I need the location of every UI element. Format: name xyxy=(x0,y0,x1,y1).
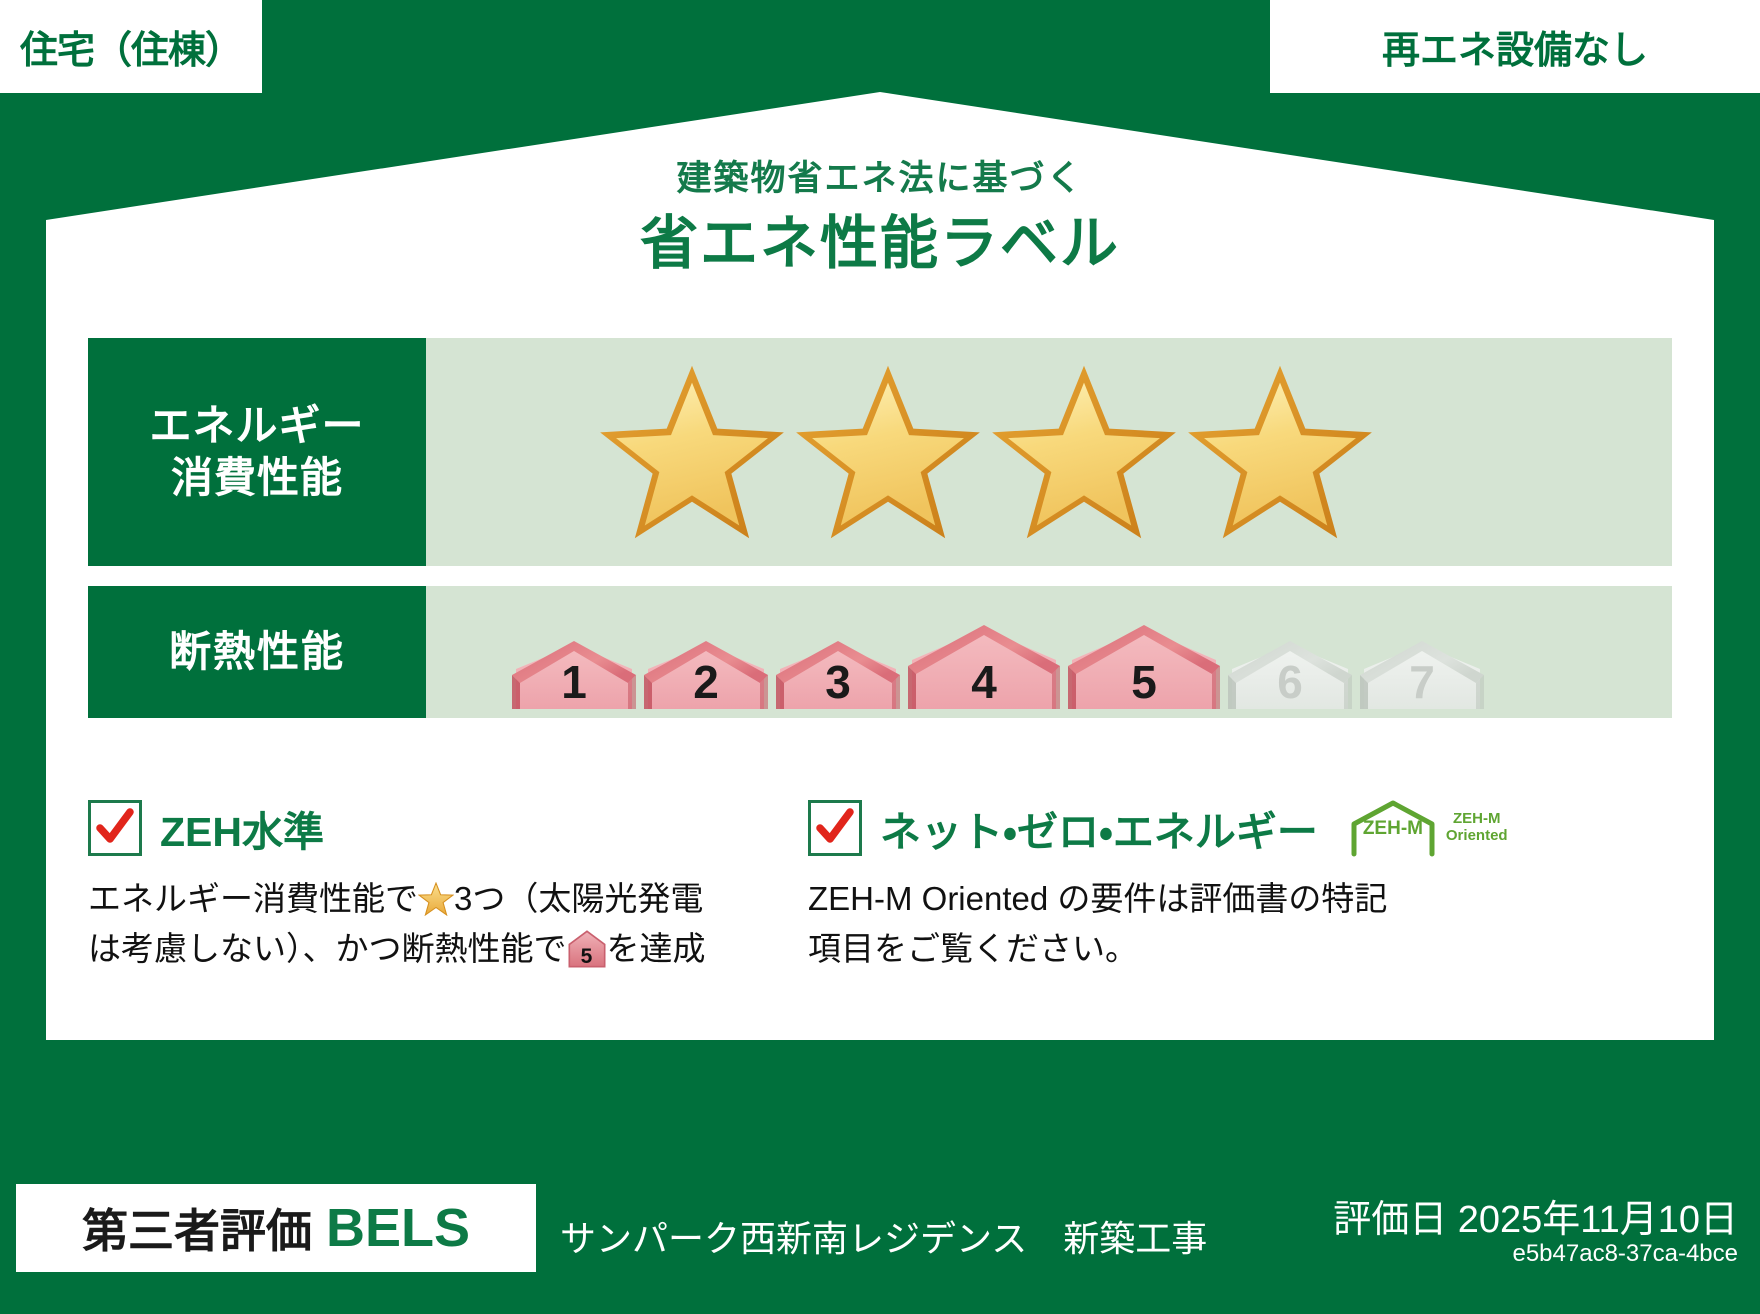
insulation-level-number: 5 xyxy=(1066,659,1222,705)
star-rating xyxy=(598,362,1374,542)
insulation-label-text: 断熱性能 xyxy=(169,626,345,679)
badge-building-type-label: 住宅（住棟） xyxy=(20,19,242,74)
energy-performance-row: エネルギー 消費性能 xyxy=(88,338,1672,566)
energy-label-line1: エネルギー xyxy=(149,400,364,453)
zeh-standard-description: エネルギー消費性能で3つ（太陽光発電 は考慮しない）、かつ断熱性能で5を達成 xyxy=(88,874,788,974)
insulation-level-1: 1 xyxy=(510,639,638,711)
zeh-m-house-icon: ZEH-M xyxy=(1346,798,1440,858)
zeh-m-oriented-logo: ZEH-M ZEH-M Oriented xyxy=(1346,798,1508,858)
insulation-level-number: 2 xyxy=(642,659,770,705)
project-name: サンパーク西新南レジデンス 新築工事 xyxy=(560,1210,1207,1262)
insulation-level-6: 6 xyxy=(1226,639,1354,711)
energy-performance-value xyxy=(426,338,1672,566)
insulation-level-number: 3 xyxy=(774,659,902,705)
net-zero-energy-title: ネット・ゼロ・エネルギー xyxy=(880,798,1318,858)
badge-renewable-energy: 再エネ設備なし xyxy=(1270,0,1760,93)
energy-performance-label: エネルギー 消費性能 xyxy=(88,338,426,566)
insulation-performance-value: 1234567 xyxy=(426,586,1672,718)
zeh-standard-title: ZEH水準 xyxy=(160,798,324,858)
page-title: 省エネ性能ラベル xyxy=(0,196,1760,280)
bels-third-party-label: 第三者評価 xyxy=(82,1195,312,1261)
evaluation-id: e5b47ac8-37ca-4bce xyxy=(1512,1240,1738,1268)
star-icon xyxy=(1186,362,1374,542)
net-zero-energy-section: ネット・ゼロ・エネルギー ZEH-M ZEH-M Oriented ZEH-M … xyxy=(808,800,1508,974)
zeh-standard-header: ZEH水準 xyxy=(88,800,788,856)
insulation-performance-row: 断熱性能 1234567 xyxy=(88,586,1672,718)
inline-house-number: 5 xyxy=(567,946,607,967)
star-icon xyxy=(598,362,786,542)
zeh-desc-part1: エネルギー消費性能で xyxy=(88,880,418,917)
insulation-level-number: 1 xyxy=(510,659,638,705)
bels-logo-text: BELS xyxy=(326,1197,470,1259)
footer: 第三者評価 BELS サンパーク西新南レジデンス 新築工事 評価日 2025年1… xyxy=(0,1174,1760,1314)
star-icon xyxy=(990,362,1178,542)
insulation-level-5: 5 xyxy=(1066,623,1222,711)
star-icon xyxy=(794,362,982,542)
insulation-level-scale: 1234567 xyxy=(510,579,1486,725)
nze-desc-line1: ZEH-M Oriented の要件は評価書の特記 xyxy=(808,880,1387,917)
insulation-level-3: 3 xyxy=(774,639,902,711)
badge-building-type: 住宅（住棟） xyxy=(0,0,262,93)
inline-star-icon xyxy=(418,880,454,914)
zeh-desc-stars: 3つ（太陽光発電 xyxy=(454,880,703,917)
check-icon xyxy=(815,807,855,849)
zeh-m-mark-text: ZEH-M xyxy=(1346,818,1440,840)
insulation-level-4: 4 xyxy=(906,623,1062,711)
badge-renewable-energy-label: 再エネ設備なし xyxy=(1382,19,1648,74)
insulation-level-7: 7 xyxy=(1358,639,1486,711)
zeh-standard-section: ZEH水準 エネルギー消費性能で3つ（太陽光発電 は考慮しない）、かつ断熱性能で… xyxy=(88,800,788,974)
net-zero-energy-header: ネット・ゼロ・エネルギー ZEH-M ZEH-M Oriented xyxy=(808,800,1508,856)
zeh-desc-part2: は考慮しない）、かつ断熱性能で xyxy=(88,930,567,967)
zeh-desc-part3: を達成 xyxy=(607,930,706,967)
bels-certification-badge: 第三者評価 BELS xyxy=(16,1184,536,1272)
energy-label-line2: 消費性能 xyxy=(171,452,343,505)
zeh-m-side-line2: Oriented xyxy=(1446,828,1508,845)
insulation-level-number: 4 xyxy=(906,659,1062,705)
nze-desc-line2: 項目をご覧ください。 xyxy=(808,930,1138,967)
zeh-standard-checkbox[interactable] xyxy=(88,800,142,856)
net-zero-energy-checkbox[interactable] xyxy=(808,800,862,856)
title-subtitle: 建築物省エネ法に基づく xyxy=(0,150,1760,201)
check-icon xyxy=(95,807,135,849)
net-zero-energy-description: ZEH-M Oriented の要件は評価書の特記 項目をご覧ください。 xyxy=(808,874,1508,974)
evaluation-date: 評価日 2025年11月10日 xyxy=(1333,1188,1738,1243)
inline-house-icon: 5 xyxy=(567,930,607,968)
insulation-performance-label: 断熱性能 xyxy=(88,586,426,718)
zeh-m-side-text: ZEH-M Oriented xyxy=(1446,811,1508,845)
insulation-level-number: 6 xyxy=(1226,659,1354,705)
insulation-level-2: 2 xyxy=(642,639,770,711)
bels-energy-label: 住宅（住棟） 再エネ設備なし 建築物省エネ法に基づく 省エネ性能ラベル エネルギ… xyxy=(0,0,1760,1314)
insulation-level-number: 7 xyxy=(1358,659,1486,705)
zeh-m-side-line1: ZEH-M xyxy=(1446,811,1508,828)
